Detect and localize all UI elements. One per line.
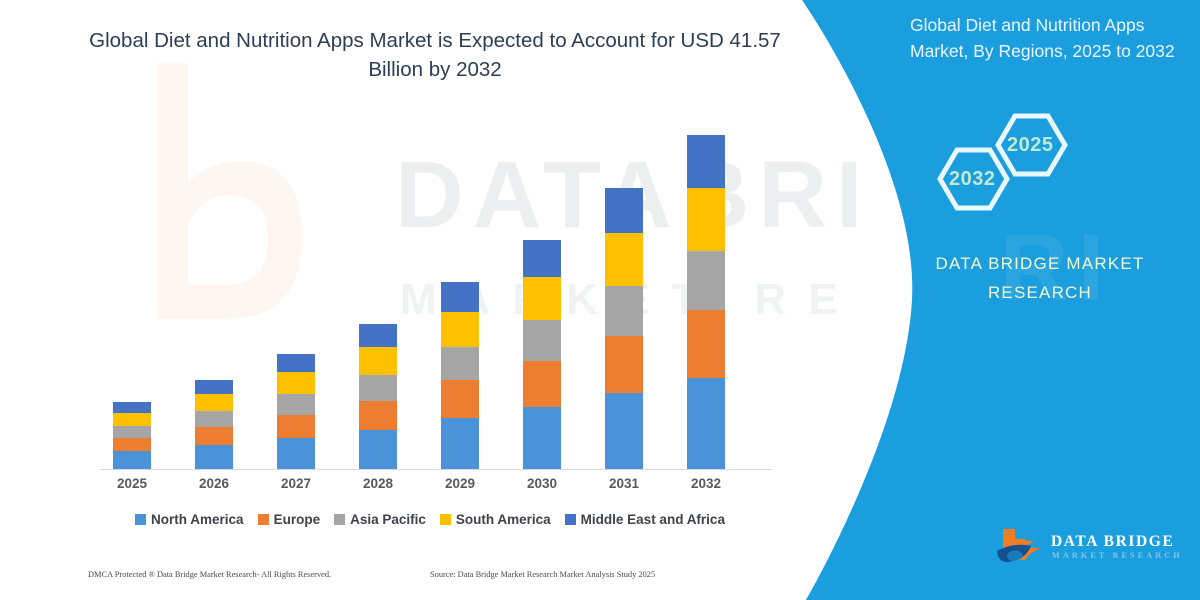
bar-segment-europe[interactable]	[359, 401, 397, 430]
bar-segment-asia-pacific[interactable]	[687, 251, 725, 310]
bar-segment-europe[interactable]	[441, 380, 479, 418]
x-axis-labels: 20252026202720282029203020312032	[100, 476, 765, 498]
x-label-2032: 2032	[676, 476, 736, 491]
bar-segment-asia-pacific[interactable]	[113, 426, 151, 438]
legend-label: South America	[456, 512, 551, 527]
bar-segment-middle-east-and-africa[interactable]	[441, 282, 479, 312]
hex-year-2032-label: 2032	[949, 168, 996, 191]
footer-source: Source: Data Bridge Market Research Mark…	[430, 570, 655, 579]
bar-segment-middle-east-and-africa[interactable]	[195, 380, 233, 394]
bar-segment-south-america[interactable]	[195, 394, 233, 411]
bar-segment-europe[interactable]	[687, 310, 725, 378]
bar-segment-north-america[interactable]	[605, 393, 643, 470]
legend-swatch-icon	[258, 514, 269, 525]
bar-2031[interactable]	[605, 188, 643, 470]
brand-name-line2: RESEARCH	[880, 279, 1200, 308]
bar-segment-europe[interactable]	[277, 415, 315, 438]
legend-swatch-icon	[440, 514, 451, 525]
legend-swatch-icon	[565, 514, 576, 525]
bar-segment-middle-east-and-africa[interactable]	[277, 354, 315, 372]
bar-segment-north-america[interactable]	[359, 430, 397, 470]
bar-2028[interactable]	[359, 324, 397, 470]
bar-segment-asia-pacific[interactable]	[195, 411, 233, 427]
bar-segment-south-america[interactable]	[113, 413, 151, 426]
brand-name: DATA BRIDGE MARKET RESEARCH	[880, 250, 1200, 308]
bar-2025[interactable]	[113, 402, 151, 470]
legend-swatch-icon	[334, 514, 345, 525]
page-title: Global Diet and Nutrition Apps Market is…	[85, 26, 785, 84]
x-label-2031: 2031	[594, 476, 654, 491]
bar-segment-middle-east-and-africa[interactable]	[605, 188, 643, 233]
bar-segment-asia-pacific[interactable]	[277, 394, 315, 415]
bar-segment-europe[interactable]	[523, 361, 561, 407]
bar-segment-south-america[interactable]	[277, 372, 315, 394]
legend-item-south-america[interactable]: South America	[440, 512, 551, 527]
bar-segment-north-america[interactable]	[687, 378, 725, 470]
x-label-2029: 2029	[430, 476, 490, 491]
bar-2027[interactable]	[277, 354, 315, 470]
chart-legend: North AmericaEuropeAsia PacificSouth Ame…	[0, 512, 860, 527]
bar-segment-south-america[interactable]	[605, 233, 643, 286]
bar-2032[interactable]	[687, 135, 725, 470]
bar-segment-middle-east-and-africa[interactable]	[113, 402, 151, 413]
logo-mark-icon	[995, 527, 1047, 575]
chart-panel: DATABRIDGE MARKET RESEARCH Global Diet a…	[0, 0, 860, 600]
bar-segment-asia-pacific[interactable]	[441, 347, 479, 380]
bar-2029[interactable]	[441, 282, 479, 470]
bar-chart-plot-area	[100, 145, 765, 470]
legend-swatch-icon	[135, 514, 146, 525]
bar-segment-europe[interactable]	[113, 438, 151, 451]
legend-item-north-america[interactable]: North America	[135, 512, 244, 527]
bar-2030[interactable]	[523, 240, 561, 470]
logo-text-sub: MARKET RESEARCH	[1052, 551, 1183, 560]
x-axis-line	[100, 469, 772, 470]
bar-segment-asia-pacific[interactable]	[523, 320, 561, 361]
bar-segment-north-america[interactable]	[195, 445, 233, 470]
bar-segment-south-america[interactable]	[359, 347, 397, 375]
legend-item-middle-east-and-africa[interactable]: Middle East and Africa	[565, 512, 725, 527]
bar-segment-europe[interactable]	[605, 336, 643, 393]
legend-label: North America	[151, 512, 244, 527]
bar-segment-south-america[interactable]	[441, 312, 479, 347]
bar-segment-europe[interactable]	[195, 427, 233, 445]
bar-segment-north-america[interactable]	[523, 407, 561, 470]
data-bridge-logo: DATA BRIDGE MARKET RESEARCH	[995, 527, 1190, 579]
bar-segment-south-america[interactable]	[523, 277, 561, 320]
bar-2026[interactable]	[195, 380, 233, 470]
panel-title: Global Diet and Nutrition Apps Market, B…	[888, 12, 1200, 65]
bar-segment-asia-pacific[interactable]	[359, 375, 397, 401]
bar-segment-asia-pacific[interactable]	[605, 286, 643, 336]
hex-year-2025-label: 2025	[1007, 134, 1054, 157]
x-label-2025: 2025	[102, 476, 162, 491]
hexagon-outlines	[915, 98, 1165, 228]
bar-segment-north-america[interactable]	[113, 451, 151, 470]
legend-label: Middle East and Africa	[581, 512, 725, 527]
legend-label: Asia Pacific	[350, 512, 426, 527]
brand-name-line1: DATA BRIDGE MARKET	[880, 250, 1200, 279]
legend-item-europe[interactable]: Europe	[258, 512, 321, 527]
bar-segment-south-america[interactable]	[687, 188, 725, 251]
bar-segment-middle-east-and-africa[interactable]	[359, 324, 397, 347]
logo-text-main: DATA BRIDGE	[1051, 533, 1174, 551]
legend-label: Europe	[274, 512, 321, 527]
footer-copyright: DMCA Protected ® Data Bridge Market Rese…	[88, 570, 331, 579]
x-label-2026: 2026	[184, 476, 244, 491]
x-label-2030: 2030	[512, 476, 572, 491]
year-hexagon-badges: 2025 2032	[915, 98, 1165, 228]
legend-item-asia-pacific[interactable]: Asia Pacific	[334, 512, 426, 527]
x-label-2028: 2028	[348, 476, 408, 491]
brand-panel-content: Global Diet and Nutrition Apps Market, B…	[880, 0, 1200, 600]
x-label-2027: 2027	[266, 476, 326, 491]
bar-segment-middle-east-and-africa[interactable]	[523, 240, 561, 277]
bar-segment-north-america[interactable]	[441, 418, 479, 470]
bar-segment-middle-east-and-africa[interactable]	[687, 135, 725, 188]
bar-segment-north-america[interactable]	[277, 438, 315, 470]
